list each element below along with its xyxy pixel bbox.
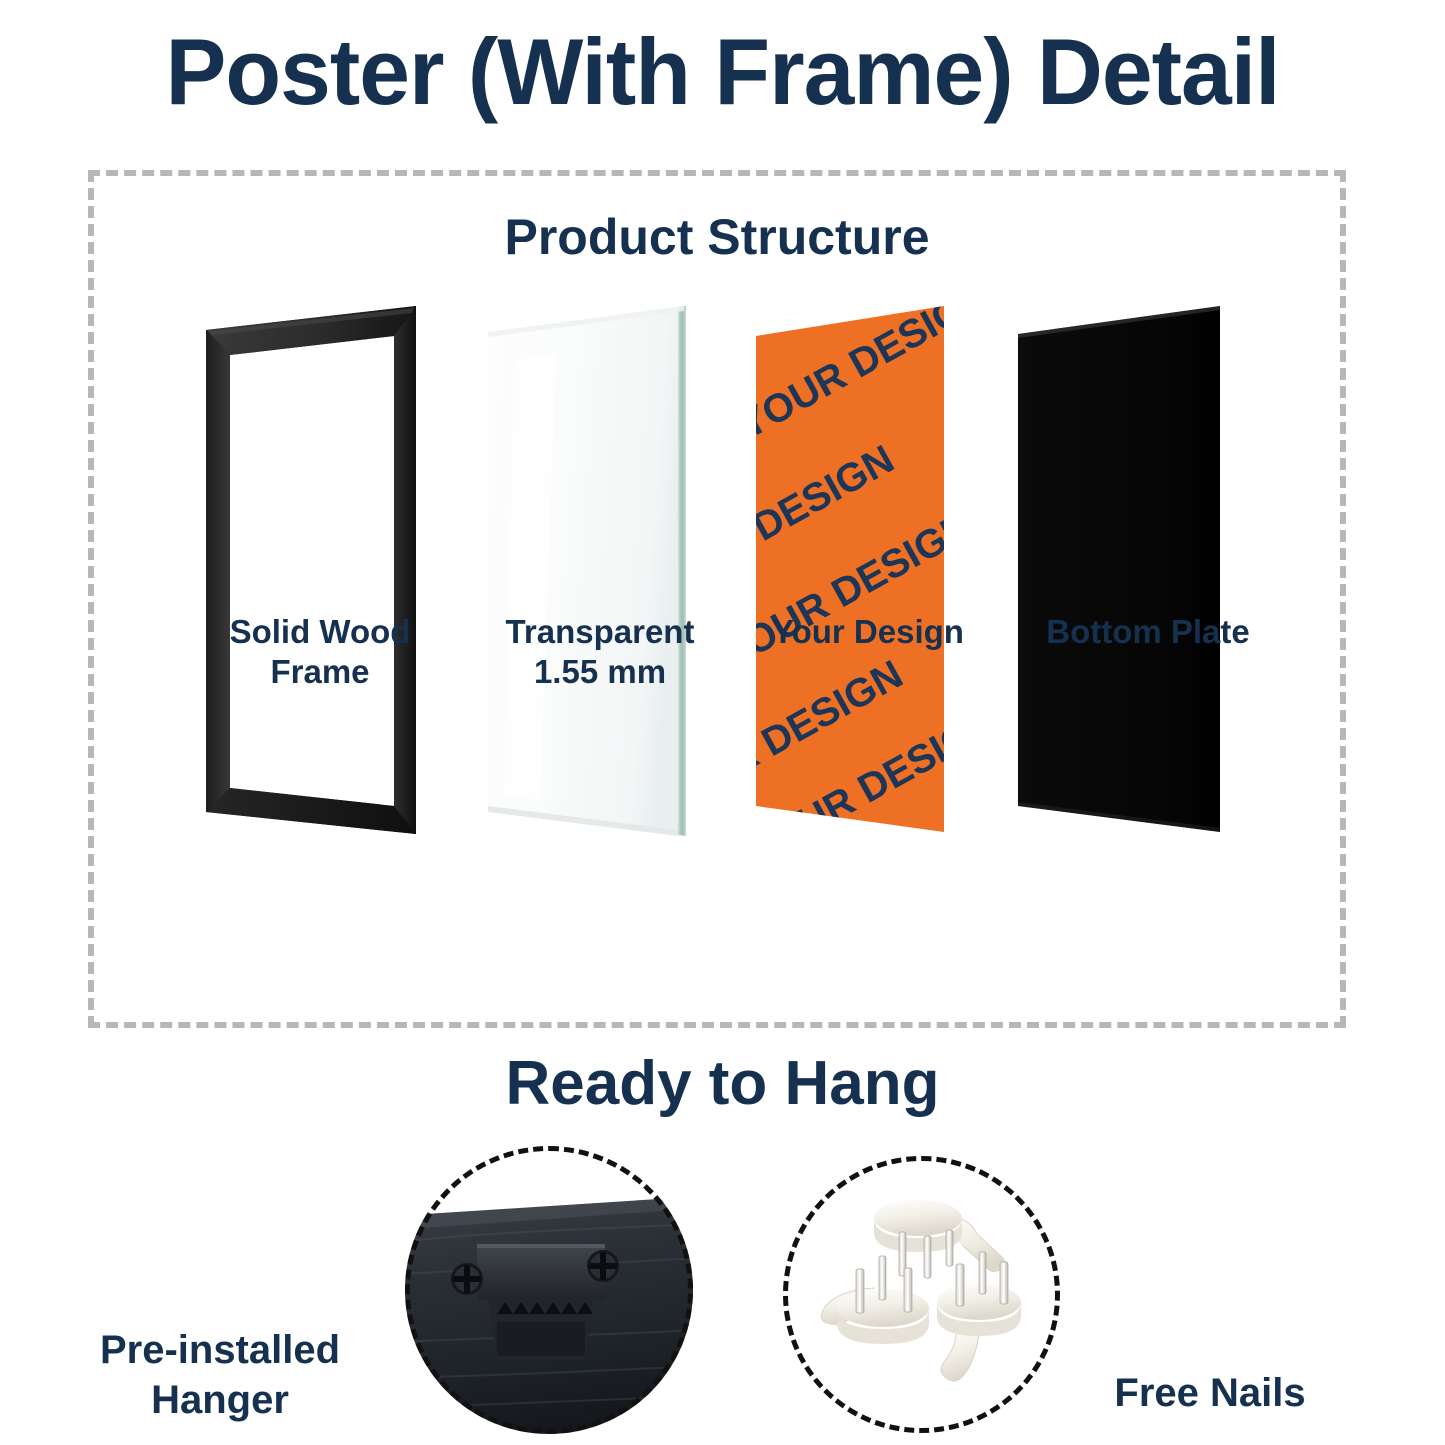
caption-bottom-plate: Bottom Plate: [968, 612, 1328, 652]
nails-closeup-image: [783, 1156, 1060, 1433]
your-design-sheet-icon: YOUR DESIGN YOUR DESIGN YOUR DESIGN YOUR…: [748, 300, 968, 860]
page-title: Poster (With Frame) Detail: [22, 18, 1424, 126]
part-bottom-plate: [1008, 300, 1238, 890]
label-line-2: Hanger: [40, 1375, 400, 1425]
part-solid-wood-frame: [198, 300, 448, 890]
solid-wood-frame-icon: [198, 300, 448, 860]
caption-line-1: Bottom Plate: [968, 612, 1328, 652]
label-line-1: Free Nails: [1060, 1368, 1360, 1418]
exploded-parts-row: YOUR DESIGN YOUR DESIGN YOUR DESIGN YOUR…: [88, 300, 1346, 890]
transparent-sheet-icon: [478, 300, 708, 860]
part-your-design-sheet: YOUR DESIGN YOUR DESIGN YOUR DESIGN YOUR…: [748, 300, 968, 890]
ready-to-hang-heading: Ready to Hang: [0, 1048, 1445, 1119]
label-free-nails: Free Nails: [1060, 1368, 1360, 1418]
structure-heading: Product Structure: [94, 208, 1340, 266]
hanger-closeup-image: [405, 1146, 693, 1434]
caption-line-2: 1.55 mm: [420, 652, 780, 692]
label-pre-installed-hanger: Pre-installed Hanger: [40, 1325, 400, 1425]
part-transparent-sheet: [478, 300, 708, 890]
label-line-1: Pre-installed: [40, 1325, 400, 1375]
bottom-plate-icon: [1008, 300, 1238, 860]
